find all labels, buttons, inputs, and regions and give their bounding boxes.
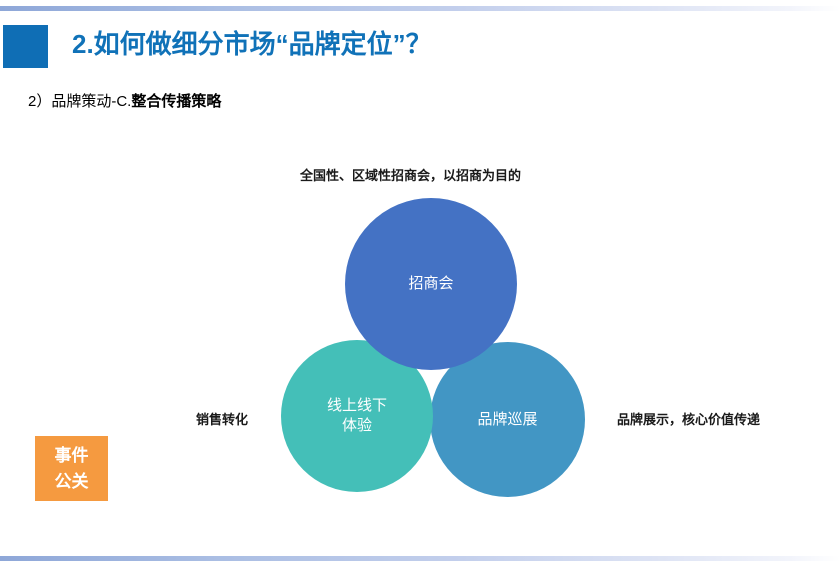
event-pr-tag[interactable]: 事件 公关 xyxy=(35,436,108,501)
event-pr-tag-line1: 事件 xyxy=(55,443,89,469)
circle-brand-roadshow-label-line1: 品牌巡展 xyxy=(477,410,537,430)
circle-zhaoshanghui-label: 招商会 xyxy=(408,274,453,294)
circle-online-offline-experience-label-line1: 线上线下 xyxy=(327,396,387,416)
venn-diagram: 全国性、区域性招商会，以招商为目的 销售转化 品牌展示，核心价值传递 招商会 线… xyxy=(0,0,840,570)
circle-online-offline-experience-label: 线上线下 体验 xyxy=(327,396,387,436)
callout-top-label: 全国性、区域性招商会，以招商为目的 xyxy=(300,167,521,185)
callout-left-label: 销售转化 xyxy=(196,411,248,429)
callout-right-label: 品牌展示，核心价值传递 xyxy=(617,411,760,429)
slide-canvas: 2.如何做细分市场“品牌定位”？ 2）品牌策动-C.整合传播策略 全国性、区域性… xyxy=(0,0,840,570)
circle-zhaoshanghui-label-line1: 招商会 xyxy=(408,274,453,294)
event-pr-tag-line2: 公关 xyxy=(55,469,89,495)
circle-online-offline-experience-label-line2: 体验 xyxy=(327,416,387,436)
circle-zhaoshanghui[interactable]: 招商会 xyxy=(345,198,517,370)
circle-brand-roadshow-label: 品牌巡展 xyxy=(477,410,537,430)
